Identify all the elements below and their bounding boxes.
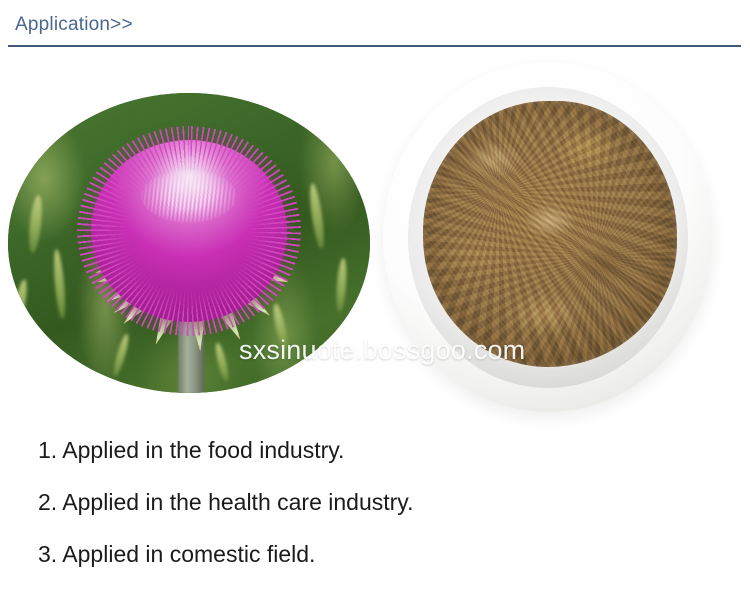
media-band: sxsinuote.bossgoo.com [0,55,750,420]
application-list: 1. Applied in the food industry. 2. Appl… [38,424,728,580]
thistle-flower-head [91,140,287,322]
page-title: Application>> [15,14,133,36]
thistle-flower-photo [8,93,370,393]
list-item: 3. Applied in comestic field. [38,528,728,580]
powder-edge-highlight [421,99,679,369]
powder-bowl-photo [383,62,713,412]
thistle-spines [77,126,301,336]
thistle-crown-highlight [141,169,237,223]
list-item: 1. Applied in the food industry. [38,424,728,476]
extract-powder [423,101,677,367]
list-item: 2. Applied in the health care industry. [38,476,728,528]
header-divider [8,45,741,47]
